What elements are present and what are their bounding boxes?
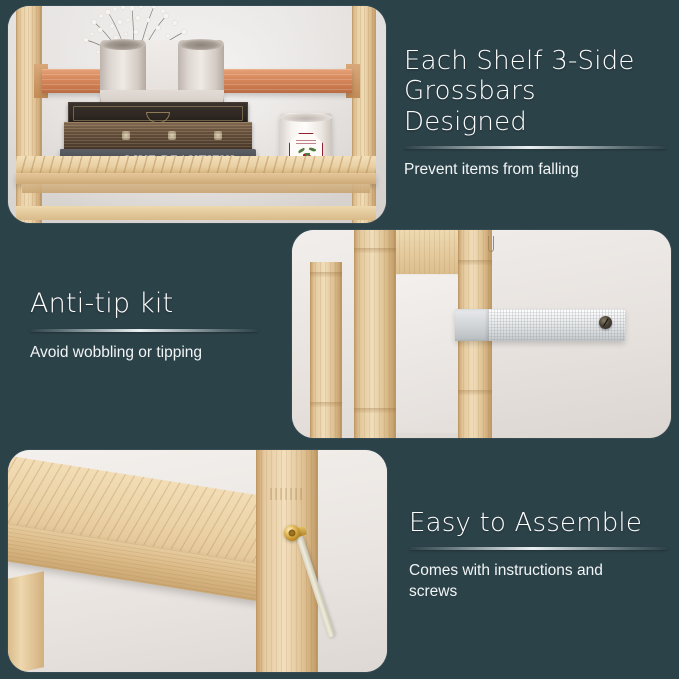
divider-line: [30, 329, 258, 332]
subtext-assembly: Comes with instructions and screws: [409, 561, 667, 602]
divider-line: [404, 146, 666, 149]
feature-text-anti-tip: Anti-tip kit Avoid wobbling or tipping: [30, 288, 258, 363]
bamboo-node: [354, 248, 396, 253]
infographic-canvas: ATHENA CALDERONE LIVE BEAUTIFUL: [0, 0, 679, 679]
feature-text-grossbars: Each Shelf 3-Side Grossbars Designed Pre…: [404, 46, 666, 181]
vase-inner-gap: [146, 40, 178, 92]
subtext-line-1: Comes with instructions and: [409, 561, 667, 581]
photo-panel-anti-tip: [292, 230, 671, 438]
bamboo-node: [310, 272, 342, 277]
headline-line-2: Grossbars Designed: [404, 76, 666, 137]
vase-opening-right: [178, 39, 224, 50]
wall-recess: [387, 275, 459, 433]
photo-panel-grossbars: ATHENA CALDERONE LIVE BEAUTIFUL: [8, 6, 386, 223]
divider-line: [409, 547, 667, 550]
bamboo-post-left: [354, 230, 396, 438]
bamboo-node: [458, 260, 492, 265]
shelf-underside: [22, 184, 370, 193]
book-clasp: [214, 131, 222, 140]
bamboo-node: [354, 408, 396, 413]
candle-rim: [280, 113, 332, 122]
brass-assembly-screw: [284, 525, 300, 541]
shelf-front-edge: [16, 173, 376, 184]
mounting-hook: [488, 236, 494, 252]
feature-text-assembly: Easy to Assemble Comes with instructions…: [409, 508, 667, 602]
bamboo-node: [310, 402, 342, 407]
headline-anti-tip: Anti-tip kit: [30, 288, 258, 320]
headline-assembly: Easy to Assemble: [409, 508, 667, 538]
headline-line-1: Each Shelf 3-Side: [404, 46, 666, 76]
book-middle-antique: [64, 122, 252, 151]
vase-opening-left: [100, 39, 146, 50]
bamboo-grain: [354, 230, 396, 438]
headline-grossbars: Each Shelf 3-Side Grossbars Designed: [404, 46, 666, 137]
bamboo-grain: [310, 262, 342, 438]
label-leaf: [309, 147, 317, 153]
strap-loop-around-post: [455, 309, 489, 341]
book-clasp: [122, 131, 130, 140]
subtext-grossbars: Prevent items from falling: [404, 160, 666, 180]
bamboo-node: [458, 390, 492, 395]
book-clasp: [168, 131, 176, 140]
shelf-lower-rail: [16, 206, 376, 220]
strap-wall-screw: [599, 316, 612, 329]
shelf-slats: [16, 156, 376, 173]
bamboo-post-far-left: [310, 262, 342, 438]
subtext-anti-tip: Avoid wobbling or tipping: [30, 343, 258, 363]
bamboo-marking: [270, 488, 304, 500]
photo-panel-assembly: [8, 450, 387, 672]
subtext-line-2: screws: [409, 582, 667, 602]
shelf-leg: [8, 571, 44, 672]
